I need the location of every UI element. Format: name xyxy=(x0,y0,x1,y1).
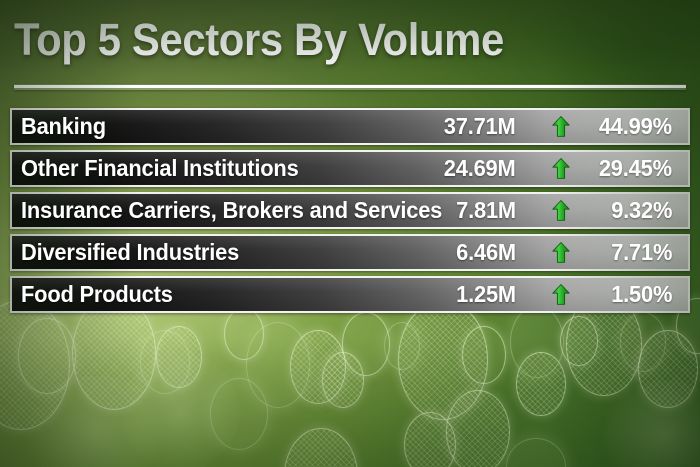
sector-name: Diversified Industries xyxy=(21,236,239,269)
table-row[interactable]: Other Financial Institutions 24.69M 29.4… xyxy=(10,150,690,187)
sector-volume: 7.81M xyxy=(456,194,516,227)
sector-table: Banking 37.71M 44.99% xyxy=(10,108,690,318)
sector-percent: 7.71% xyxy=(611,236,672,269)
arrow-up-icon xyxy=(550,194,572,227)
sector-volume: 6.46M xyxy=(456,236,516,269)
table-row[interactable]: Food Products 1.25M 1.50% xyxy=(10,276,690,313)
sector-volume: 24.69M xyxy=(444,152,516,185)
arrow-up-icon xyxy=(550,152,572,185)
sector-name: Other Financial Institutions xyxy=(21,152,299,185)
sector-percent: 29.45% xyxy=(599,152,672,185)
sector-percent: 1.50% xyxy=(611,278,672,311)
table-row[interactable]: Banking 37.71M 44.99% xyxy=(10,108,690,145)
table-row[interactable]: Diversified Industries 6.46M 7.71% xyxy=(10,234,690,271)
page-title: Top 5 Sectors By Volume xyxy=(14,14,628,66)
sector-name: Insurance Carriers, Brokers and Services xyxy=(21,194,442,227)
arrow-up-icon xyxy=(550,236,572,269)
title-divider xyxy=(14,84,686,90)
arrow-up-icon xyxy=(550,110,572,143)
table-row[interactable]: Insurance Carriers, Brokers and Services… xyxy=(10,192,690,229)
sector-volume: 37.71M xyxy=(444,110,516,143)
arrow-up-icon xyxy=(550,278,572,311)
dashboard-slide: Top 5 Sectors By Volume Banking 37.71M xyxy=(0,0,700,467)
sector-name: Banking xyxy=(21,110,106,143)
sector-percent: 44.99% xyxy=(599,110,672,143)
sector-percent: 9.32% xyxy=(611,194,672,227)
sector-name: Food Products xyxy=(21,278,173,311)
sector-volume: 1.25M xyxy=(456,278,516,311)
